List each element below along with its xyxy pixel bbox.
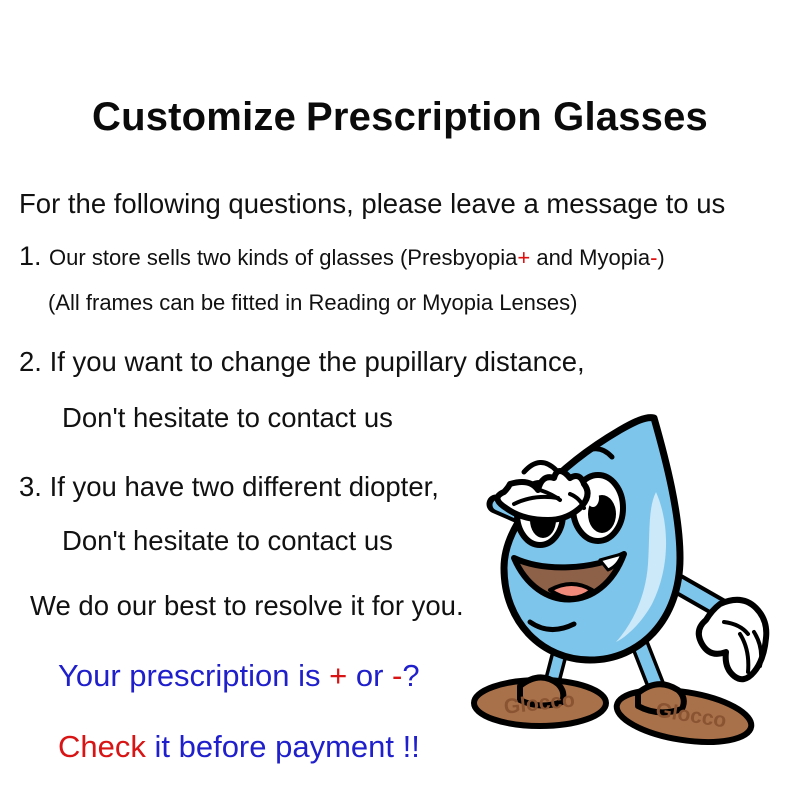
list-item-3-text: If you have two different diopter, [50,471,439,502]
left-glove [497,471,587,520]
water-drop-mascot: Glocco Glocco [452,408,800,748]
page-title: CustomizePrescription Glasses [0,95,800,140]
list-item-1-text: Our store sells two kinds of glasses (Pr… [49,245,665,270]
question-part2: or [347,658,392,693]
list-item-2: 2. If you want to change the pupillary d… [19,348,585,376]
page-title-part1: Customize [92,95,296,139]
question-part3: ? [402,658,419,693]
question-part1: Your prescription is [58,658,329,693]
closing-text: We do our best to resolve it for you. [30,592,464,620]
list-item-2-number: 2. [19,346,42,377]
check-word: Check [58,729,146,764]
check-warning-line: Check it before payment !! [58,731,420,762]
list-item-1-text-before-plus: Our store sells two kinds of glasses (Pr… [49,245,517,270]
list-item-3-number: 3. [19,471,42,502]
list-item-1: 1. Our store sells two kinds of glasses … [19,243,665,270]
check-rest: it before payment !! [146,729,420,764]
left-shoe: Glocco [474,677,606,726]
prescription-question-line: Your prescription is + or -? [58,660,420,691]
list-item-3: 3. If you have two different diopter, [19,473,439,501]
list-item-1-subtext: (All frames can be fitted in Reading or … [48,292,577,314]
question-minus-sign: - [392,658,402,693]
question-plus-sign: + [329,658,347,693]
right-glove [699,600,766,679]
page-title-part2: Prescription Glasses [306,95,708,139]
prescription-glasses-info-graphic: CustomizePrescription Glasses For the fo… [0,0,800,800]
list-item-1-text-after: ) [657,245,664,270]
list-item-3-subtext: Don't hesitate to contact us [62,527,393,555]
list-item-1-number: 1. [19,241,42,271]
intro-text: For the following questions, please leav… [19,190,725,218]
plus-sign-presbyopia: + [517,245,530,270]
right-shoe: Glocco [613,682,755,748]
list-item-2-text: If you want to change the pupillary dist… [50,346,585,377]
list-item-1-text-between: and Myopia [530,245,650,270]
list-item-2-subtext: Don't hesitate to contact us [62,404,393,432]
